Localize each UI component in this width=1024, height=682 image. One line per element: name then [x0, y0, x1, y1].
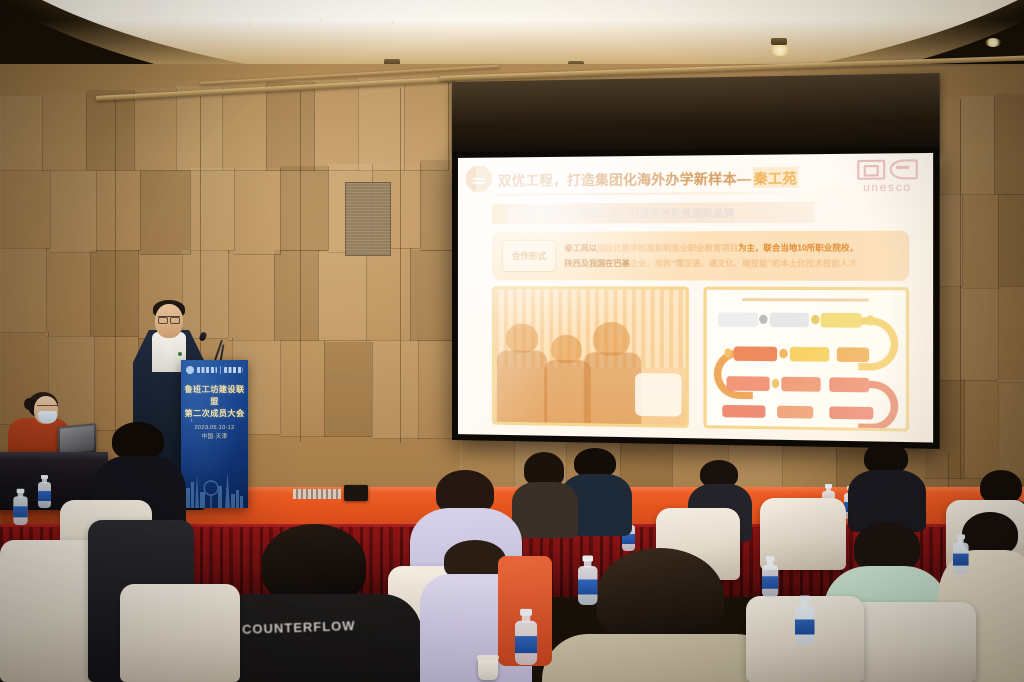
conference-hall-photo: 双优工程，打造集团化海外办学新样本— 秦工苑 unesco 校企“双优”共建秦工… — [0, 0, 1024, 682]
slide-content-card: 合作形式 秦工苑以国际化教学标准和制造业职业教育项目为主，联合当地10所职业院校… — [492, 231, 909, 281]
wall-panel — [372, 340, 419, 439]
ceiling-spotlight — [985, 38, 1001, 47]
slide-title: 双优工程，打造集团化海外办学新样本— 秦工苑 — [498, 163, 842, 192]
podium-graphic-swoosh — [187, 412, 241, 430]
diagram-node — [837, 348, 869, 362]
diagram-node — [829, 378, 869, 392]
content-body: 秦工苑以国际化教学标准和制造业职业教育项目为主，联合当地10所职业院校， 陕西及… — [564, 242, 898, 269]
wall-panel — [314, 80, 359, 171]
wall-panel — [324, 342, 373, 437]
org-logo-text — [197, 367, 217, 373]
podium-skyline-graphic — [184, 466, 245, 508]
podium-title-line-2: 第二次成员大会 — [181, 408, 248, 420]
slide-subtitle-row: 校企“双优”共建秦工苑，打造陕西职教国际品牌 — [492, 202, 814, 224]
diagram-icon-chip — [771, 379, 779, 389]
wall-seam — [115, 100, 116, 440]
photo-person-body — [584, 352, 642, 424]
unesco-wordmark: unesco — [851, 181, 925, 194]
wall-vent-grille — [345, 182, 391, 256]
diagram-node — [722, 405, 765, 418]
photo-person — [593, 322, 629, 356]
wall-seam — [200, 96, 201, 366]
wall-seam — [960, 100, 961, 480]
podium: 鲁班工坊建设联盟 第二次成员大会 2023.05.10-12 中国·天津 — [181, 360, 248, 508]
podium-title-line-1: 鲁班工坊建设联盟 — [181, 384, 248, 408]
diagram-title-bar — [742, 298, 870, 302]
podium-date: 2023.05.10-12 — [181, 424, 248, 433]
diagram-node — [789, 347, 829, 361]
diagram-node — [777, 406, 813, 419]
diagram-node — [726, 377, 769, 391]
wall-panel — [358, 78, 405, 171]
org-logo-subtext — [224, 367, 244, 373]
diagram-icon-chip — [779, 349, 787, 359]
equals-badge-icon — [466, 166, 492, 192]
wall-panel — [410, 250, 455, 341]
audience-chair — [120, 584, 240, 682]
diagram-node — [821, 313, 861, 327]
photo-person-body — [497, 350, 548, 422]
presenter-glasses — [158, 316, 180, 322]
slide-media-row — [492, 286, 909, 432]
unesco-emblem-icon — [851, 159, 925, 180]
content-line-2: 陕西及我国在巴基企业，培养“懂汉语、通文化、精技能”的本土化技术技能人才 — [564, 258, 898, 270]
slide-photo-meeting — [492, 286, 689, 428]
screen-frame: 双优工程，打造集团化海外办学新样本— 秦工苑 unesco 校企“双优”共建秦工… — [452, 147, 940, 449]
wall-panel — [366, 248, 411, 341]
diagram-icon-chip — [760, 314, 768, 324]
wall-panel — [404, 76, 449, 171]
diagram-node — [734, 347, 777, 361]
presentation-slide: 双优工程，打造集团化海外办学新样本— 秦工苑 unesco 校企“双优”共建秦工… — [458, 153, 933, 443]
podium-org-logo — [186, 365, 243, 374]
unesco-logo: unesco — [851, 159, 925, 194]
org-logo-divider — [220, 366, 221, 374]
diagram-curve — [858, 318, 898, 371]
photo-document — [635, 373, 681, 417]
slide-diagram — [703, 287, 909, 432]
diagram-node — [770, 313, 810, 327]
photo-person — [506, 324, 538, 353]
diagram-node — [781, 377, 821, 391]
content-line-1: 秦工苑以国际化教学标准和制造业职业教育项目为主，联合当地10所职业院校， — [564, 242, 898, 254]
slide-title-highlight: 秦工苑 — [752, 167, 798, 188]
content-label: 合作形式 — [502, 240, 556, 272]
staff-table-top — [0, 452, 108, 460]
projection-screen: 双优工程，打造集团化海外办学新样本— 秦工苑 unesco 校企“双优”共建秦工… — [452, 73, 940, 449]
wall-panel — [420, 160, 455, 251]
slide-title-main: 双优工程，打造集团化海外办学新样本— — [498, 167, 751, 189]
ceiling-crystal-cluster — [40, 0, 460, 32]
diagram-node — [829, 407, 873, 420]
floor-monitor-speaker — [344, 485, 368, 501]
screen-valance — [452, 73, 940, 156]
subtitle-accent-tab — [492, 204, 506, 224]
diagram-node — [718, 313, 757, 327]
ceiling-spotlight — [770, 44, 790, 56]
wall-panel — [318, 252, 367, 341]
staff-face-mask — [38, 411, 57, 423]
stage-equipment-grille — [293, 489, 341, 499]
photo-person — [551, 335, 581, 363]
ceiling-spotlight — [771, 38, 787, 45]
podium-event-title: 鲁班工坊建设联盟 第二次成员大会 — [181, 384, 248, 420]
podium-event-info: 2023.05.10-12 中国·天津 — [181, 424, 248, 442]
paper-cup — [478, 658, 498, 680]
wall-seam — [300, 92, 301, 442]
org-logo-mark-icon — [186, 366, 194, 374]
podium-location: 中国·天津 — [181, 433, 248, 442]
slide-subtitle: 校企“双优”共建秦工苑，打造陕西职教国际品牌 — [506, 202, 814, 224]
presenter-lapel-pin — [178, 352, 182, 356]
wall-seam — [400, 88, 401, 443]
diagram-icon-chip — [811, 315, 819, 325]
